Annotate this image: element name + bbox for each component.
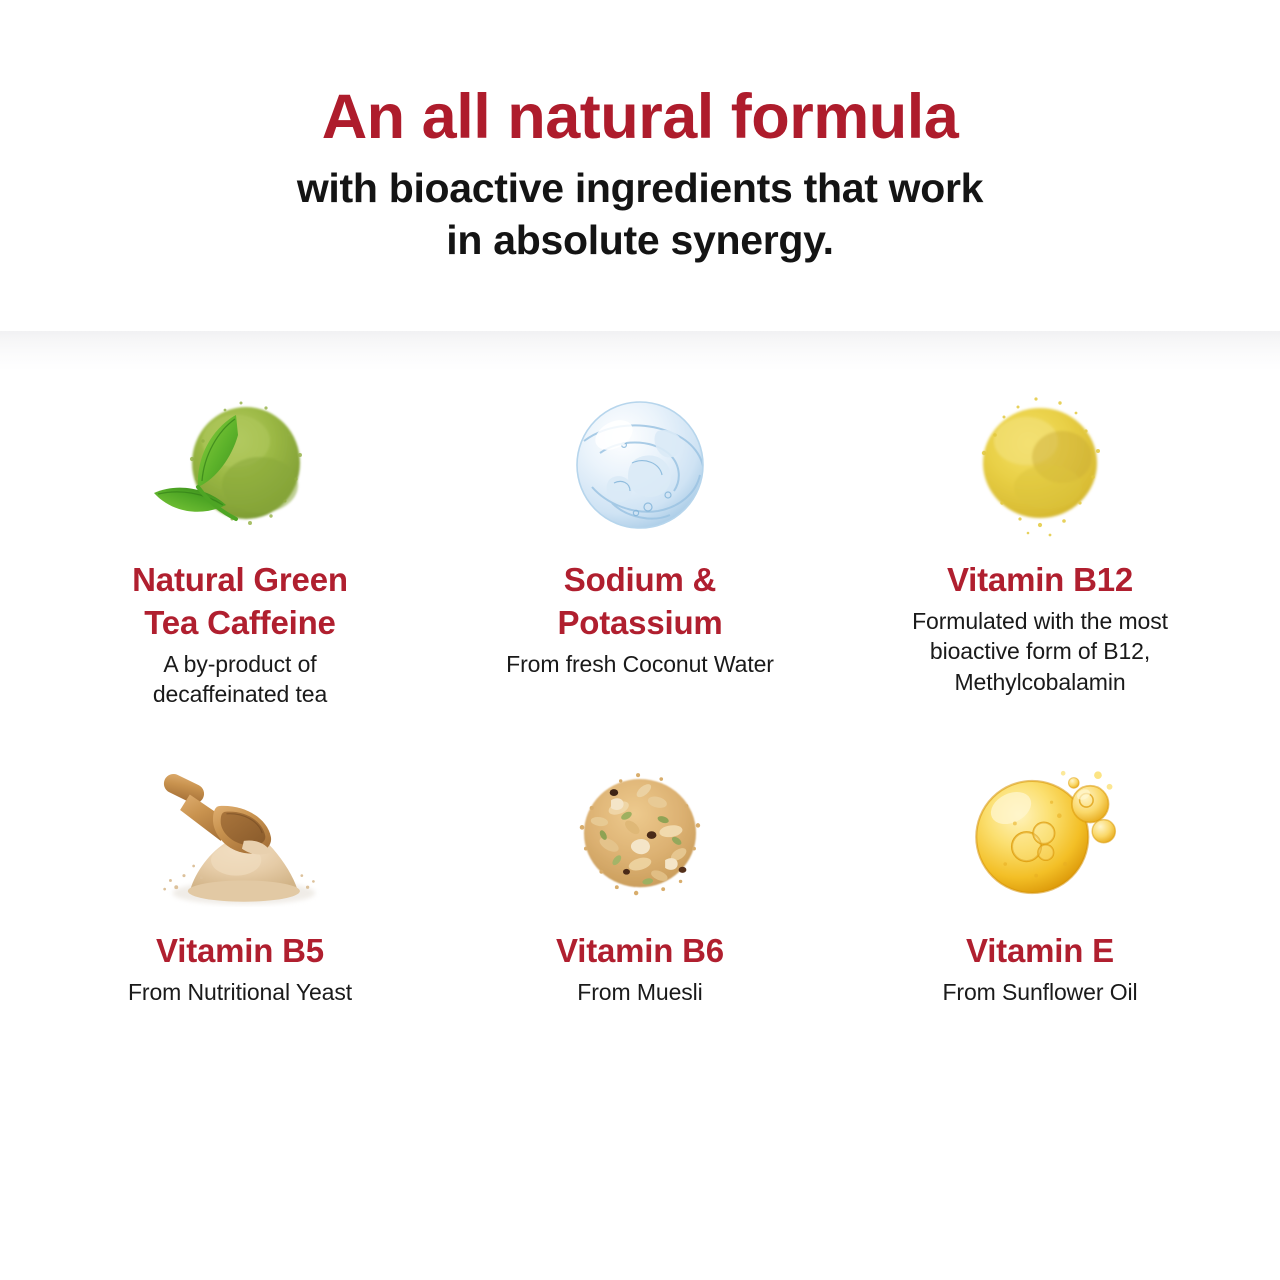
water-sphere-icon xyxy=(540,383,740,553)
yellow-powder-icon xyxy=(940,383,1140,553)
ingredient-title: Vitamin B5 xyxy=(156,930,324,973)
ingredient-title-line-1: Vitamin B12 xyxy=(947,559,1133,602)
ingredient-card-vitamin-b12: Vitamin B12 Formulated with the most bio… xyxy=(840,383,1240,710)
subheadline-line-2: in absolute synergy. xyxy=(0,214,1280,266)
infographic-page: An all natural formula with bioactive in… xyxy=(0,0,1280,1280)
page-headline: An all natural formula xyxy=(0,84,1280,151)
ingredient-desc-line-1: From Nutritional Yeast xyxy=(128,977,352,1008)
ingredient-desc-line-2: decaffeinated tea xyxy=(153,679,327,710)
ingredient-desc-line-1: From Sunflower Oil xyxy=(942,977,1137,1008)
ingredient-title-line-1: Natural Green xyxy=(132,559,348,602)
ingredient-desc-line-1: From Muesli xyxy=(577,977,702,1008)
muesli-pile-icon xyxy=(540,752,740,928)
ingredient-title: Vitamin E xyxy=(966,930,1114,973)
ingredients-grid: Natural Green Tea Caffeine A by-product … xyxy=(0,331,1280,1007)
ingredient-title-line-2: Tea Caffeine xyxy=(132,602,348,645)
ingredient-title: Vitamin B12 xyxy=(947,559,1133,602)
ingredient-description: From Sunflower Oil xyxy=(942,977,1137,1008)
ingredient-description: From Nutritional Yeast xyxy=(128,977,352,1008)
ingredient-title: Vitamin B6 xyxy=(556,930,724,973)
ingredient-desc-line-3: Methylcobalamin xyxy=(912,667,1168,698)
ingredient-card-vitamin-e: Vitamin E From Sunflower Oil xyxy=(840,752,1240,1007)
ingredient-desc-line-2: bioactive form of B12, xyxy=(912,636,1168,667)
ingredient-title-line-1: Vitamin E xyxy=(966,930,1114,973)
page-subheadline: with bioactive ingredients that work in … xyxy=(0,162,1280,267)
ingredient-title-line-1: Vitamin B6 xyxy=(556,930,724,973)
wooden-scoop-yeast-icon xyxy=(140,752,340,928)
ingredient-desc-line-1: From fresh Coconut Water xyxy=(506,649,774,680)
ingredient-title: Sodium & Potassium xyxy=(557,559,722,645)
ingredient-title: Natural Green Tea Caffeine xyxy=(132,559,348,645)
ingredient-description: From fresh Coconut Water xyxy=(506,649,774,680)
ingredient-title-line-1: Vitamin B5 xyxy=(156,930,324,973)
ingredient-desc-line-1: Formulated with the most xyxy=(912,606,1168,637)
ingredient-title-line-1: Sodium & xyxy=(557,559,722,602)
ingredient-card-green-tea: Natural Green Tea Caffeine A by-product … xyxy=(40,383,440,710)
green-tea-powder-icon xyxy=(140,383,340,553)
ingredient-description: A by-product of decaffeinated tea xyxy=(153,649,327,710)
subheadline-line-1: with bioactive ingredients that work xyxy=(0,162,1280,214)
header-section: An all natural formula with bioactive in… xyxy=(0,0,1280,331)
oil-droplet-icon xyxy=(940,752,1140,928)
ingredient-card-sodium-potassium: Sodium & Potassium From fresh Coconut Wa… xyxy=(440,383,840,710)
ingredient-description: From Muesli xyxy=(577,977,702,1008)
ingredient-description: Formulated with the most bioactive form … xyxy=(912,606,1168,698)
ingredient-card-vitamin-b6: Vitamin B6 From Muesli xyxy=(440,752,840,1007)
ingredient-title-line-2: Potassium xyxy=(557,602,722,645)
ingredient-desc-line-1: A by-product of xyxy=(153,649,327,680)
ingredient-card-vitamin-b5: Vitamin B5 From Nutritional Yeast xyxy=(40,752,440,1007)
